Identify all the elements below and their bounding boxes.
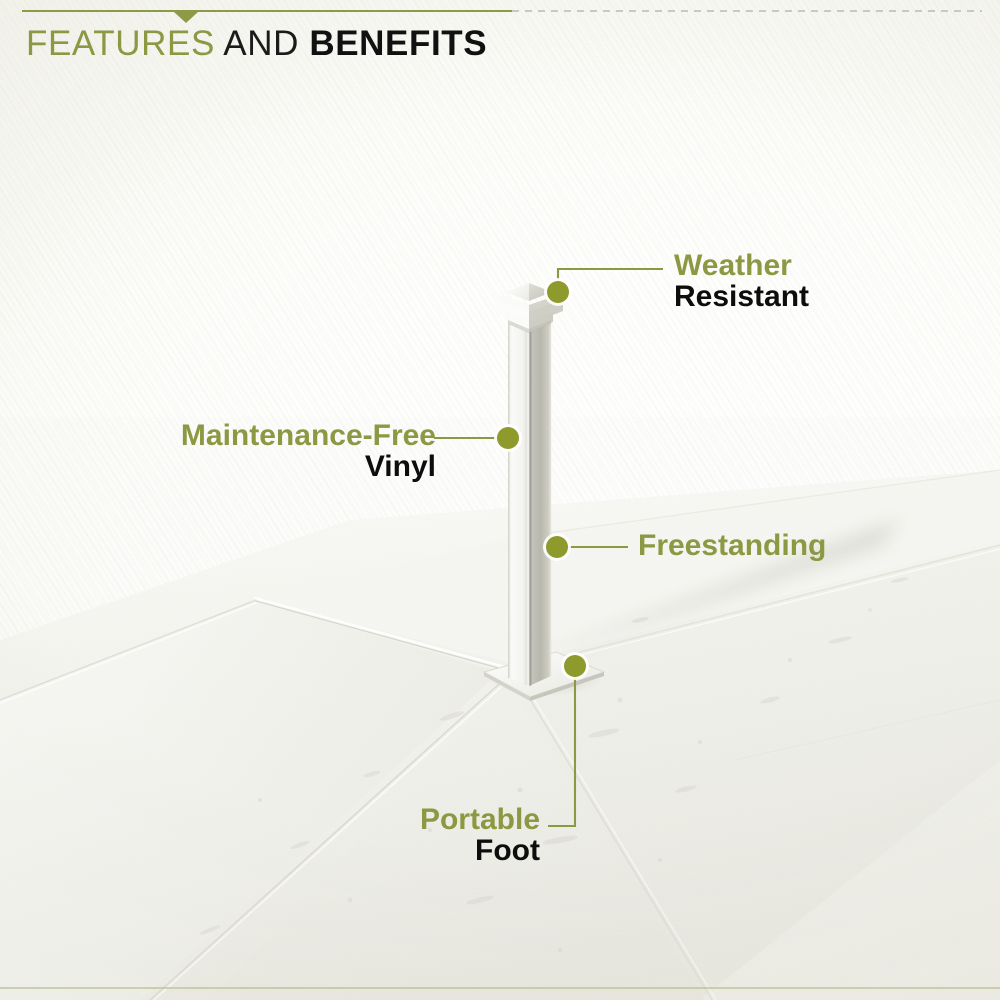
header-rule-solid [22,10,512,12]
callout-portable-line1: Portable [330,805,540,836]
page-title: FEATURES AND BENEFITS [26,26,487,61]
page-title-benefits: BENEFITS [309,24,487,63]
page-title-features: FEATURES [26,24,215,63]
callout-portable-line2: Foot [330,836,540,867]
callout-freestanding-line1: Freestanding [638,531,826,562]
triangle-down-icon [174,12,198,23]
callout-weather-line2: Resistant [674,282,809,313]
callout-label-freestanding: Freestanding [638,531,826,562]
callout-label-weather-resistant: Weather Resistant [674,251,809,313]
header-divider [0,10,1000,12]
callout-dot-freestanding[interactable] [546,536,568,558]
feature-graphic: FEATURES AND BENEFITS Weather Resistant … [0,0,1000,1000]
callout-dot-portable-foot[interactable] [564,655,586,677]
footer-rule [0,987,1000,989]
callout-dot-maintenance-free[interactable] [497,427,519,449]
page-title-and: AND [215,24,309,63]
callout-dot-weather-resistant[interactable] [547,281,569,303]
callout-weather-line1: Weather [674,251,809,282]
callout-label-portable-foot: Portable Foot [330,805,540,867]
callout-maintenance-line2: Vinyl [174,452,436,483]
callout-maintenance-line1: Maintenance-Free [174,421,436,452]
callout-label-maintenance-free-vinyl: Maintenance-Free Vinyl [174,421,436,483]
header-rule-dashed [512,10,982,12]
